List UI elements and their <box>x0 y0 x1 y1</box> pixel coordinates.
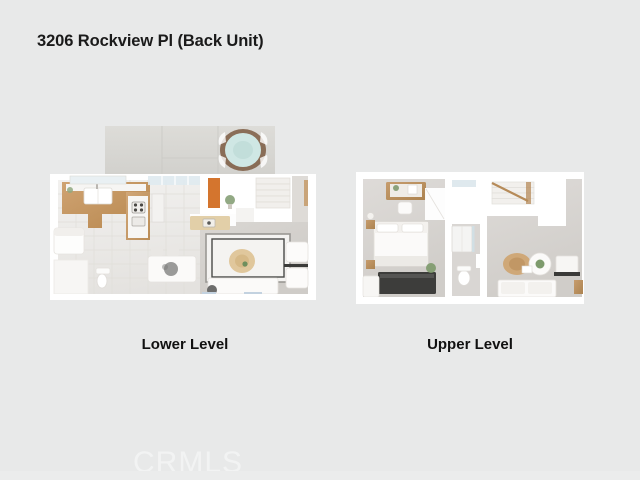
upper-bathroom <box>450 179 482 303</box>
floorplan-lower-level-image <box>40 118 330 318</box>
upper-loft <box>487 179 583 303</box>
floorplan-lower-level-label: Lower Level <box>40 336 330 353</box>
floorplan-upper-level[interactable] <box>352 168 588 313</box>
bottom-band <box>0 471 640 480</box>
lower-slider <box>148 176 200 185</box>
page-title: 3206 Rockview Pl (Back Unit) <box>37 32 263 51</box>
lower-staircase <box>236 176 308 222</box>
lower-patio <box>105 126 275 174</box>
floorplan-upper-level-label: Upper Level <box>352 336 588 353</box>
screenshot-root: 3206 Rockview Pl (Back Unit) <box>0 0 640 480</box>
floorplan-lower-level[interactable] <box>40 118 330 318</box>
floorplan-upper-level-image <box>352 168 588 313</box>
